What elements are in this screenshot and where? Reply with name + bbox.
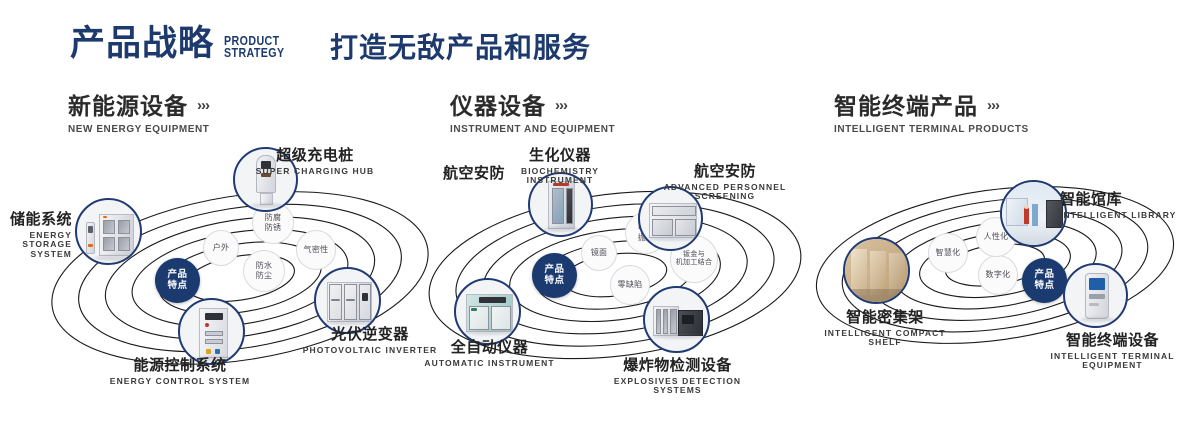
label-advanced-personnel-screening: 航空安防 ADVANCED PERSONNEL SCREENING xyxy=(655,164,795,202)
node-intelligent-library[interactable] xyxy=(1000,180,1067,247)
section-heading-cn: 新能源设备 xyxy=(68,94,188,118)
node-intelligent-terminal-equipment[interactable] xyxy=(1063,263,1128,328)
section-heading-cn: 仪器设备 xyxy=(450,94,546,118)
section-heading-intelligent-terminal: 智能终端产品 ››› INTELLIGENT TERMINAL PRODUCTS xyxy=(834,94,1039,135)
label-energy-control-system: 能源控制系统 ENERGY CONTROL SYSTEM xyxy=(85,358,275,386)
section-heading-en: INSTRUMENT AND EQUIPMENT xyxy=(450,123,615,135)
label-biochemistry-instrument: 生化仪器 BIOCHEMISTRY INSTRUMENT xyxy=(505,148,615,186)
page-subtitle: 打造无敌产品和服务 xyxy=(330,34,591,62)
chevrons-icon: ››› xyxy=(197,98,209,114)
section-heading-cn: 智能终端产品 xyxy=(834,94,978,118)
page-title-en: PRODUCT STRATEGY xyxy=(224,35,285,59)
node-explosives-detection[interactable] xyxy=(643,286,710,353)
compact-shelf-photo xyxy=(845,239,908,302)
label-energy-storage-system: 储能系统 ENERGY STORAGE SYSTEM xyxy=(0,212,72,259)
label-intelligent-terminal-equipment: 智能终端设备 INTELLIGENT TERMINAL EQUIPMENT xyxy=(1020,333,1200,371)
section-heading-instrument: 仪器设备 ››› INSTRUMENT AND EQUIPMENT xyxy=(450,94,624,135)
feature-badge-line1: 产品 xyxy=(1034,270,1054,281)
feature-badge-line2: 特点 xyxy=(1034,281,1054,292)
automatic-instrument-photo xyxy=(456,280,519,343)
control-system-photo xyxy=(180,300,243,363)
page-title-cn: 产品战略 xyxy=(70,26,214,61)
page-title: 产品战略 PRODUCT STRATEGY xyxy=(70,26,298,61)
feature-bubble: 数字化 xyxy=(978,255,1018,295)
diagram-intelligent-terminal: 产品 特点 智慧化 数字化 人性化 智能馆库 INTELLIGENT LIBRA… xyxy=(815,155,1200,390)
label-explosives-detection: 爆炸物检测设备 EXPLOSIVES DETECTION SYSTEMS xyxy=(595,358,760,396)
feature-badge-line1: 产品 xyxy=(167,270,187,281)
label-automatic-instrument: 全自动仪器 AUTOMATIC INSTRUMENT xyxy=(412,340,567,368)
label-intelligent-compact-shelf: 智能密集架 INTELLIGENT COMPACT SHELF xyxy=(810,310,960,348)
feature-bubble: 气密性 xyxy=(296,230,336,270)
energy-storage-photo xyxy=(77,200,140,263)
section-heading-new-energy: 新能源设备 ››› NEW ENERGY EQUIPMENT xyxy=(68,94,217,135)
feature-badge-line1: 产品 xyxy=(544,265,564,276)
node-photovoltaic-inverter[interactable] xyxy=(314,267,381,334)
product-strategy-infographic: 产品战略 PRODUCT STRATEGY 打造无敌产品和服务 新能源设备 ››… xyxy=(0,0,1200,422)
feature-badge: 产品 特点 xyxy=(1022,258,1067,303)
section-heading-en: NEW ENERGY EQUIPMENT xyxy=(68,123,209,135)
node-energy-storage-system[interactable] xyxy=(75,198,142,265)
explosives-detection-photo xyxy=(645,288,708,351)
node-automatic-instrument[interactable] xyxy=(454,278,521,345)
feature-badge: 产品 特点 xyxy=(532,253,577,298)
feature-bubble: 防水 防尘 xyxy=(243,250,285,292)
label-super-charging-hub: 超级充电桩 SUPER CHARGING HUB xyxy=(240,148,390,176)
feature-bubble: 镜面 xyxy=(581,235,617,271)
terminal-equipment-photo xyxy=(1065,265,1126,326)
label-aviation-security: 航空安防 xyxy=(390,166,505,183)
chevrons-icon: ››› xyxy=(987,98,999,114)
section-heading-en: INTELLIGENT TERMINAL PRODUCTS xyxy=(834,123,1029,135)
feature-bubble: 智慧化 xyxy=(928,233,968,273)
feature-bubble: 户外 xyxy=(203,230,239,266)
diagram-instrument: 产品 特点 镜面 电解 抛光 钣金与 机加工结合 零缺陷 生化仪器 BIOCHE… xyxy=(425,150,825,390)
node-intelligent-compact-shelf[interactable] xyxy=(843,237,910,304)
inverter-photo xyxy=(316,269,379,332)
feature-badge-line2: 特点 xyxy=(544,276,564,287)
feature-bubble: 零缺陷 xyxy=(610,265,650,305)
feature-badge: 产品 特点 xyxy=(155,258,200,303)
label-intelligent-library: 智能馆库 INTELLIGENT LIBRARY xyxy=(1060,192,1200,220)
diagram-new-energy: 产品 特点 户外 防腐 防锈 防水 防尘 气密性 xyxy=(40,150,440,390)
intelligent-library-photo xyxy=(1002,182,1065,245)
node-energy-control-system[interactable] xyxy=(178,298,245,365)
feature-badge-line2: 特点 xyxy=(167,281,187,292)
chevrons-icon: ››› xyxy=(555,98,567,114)
